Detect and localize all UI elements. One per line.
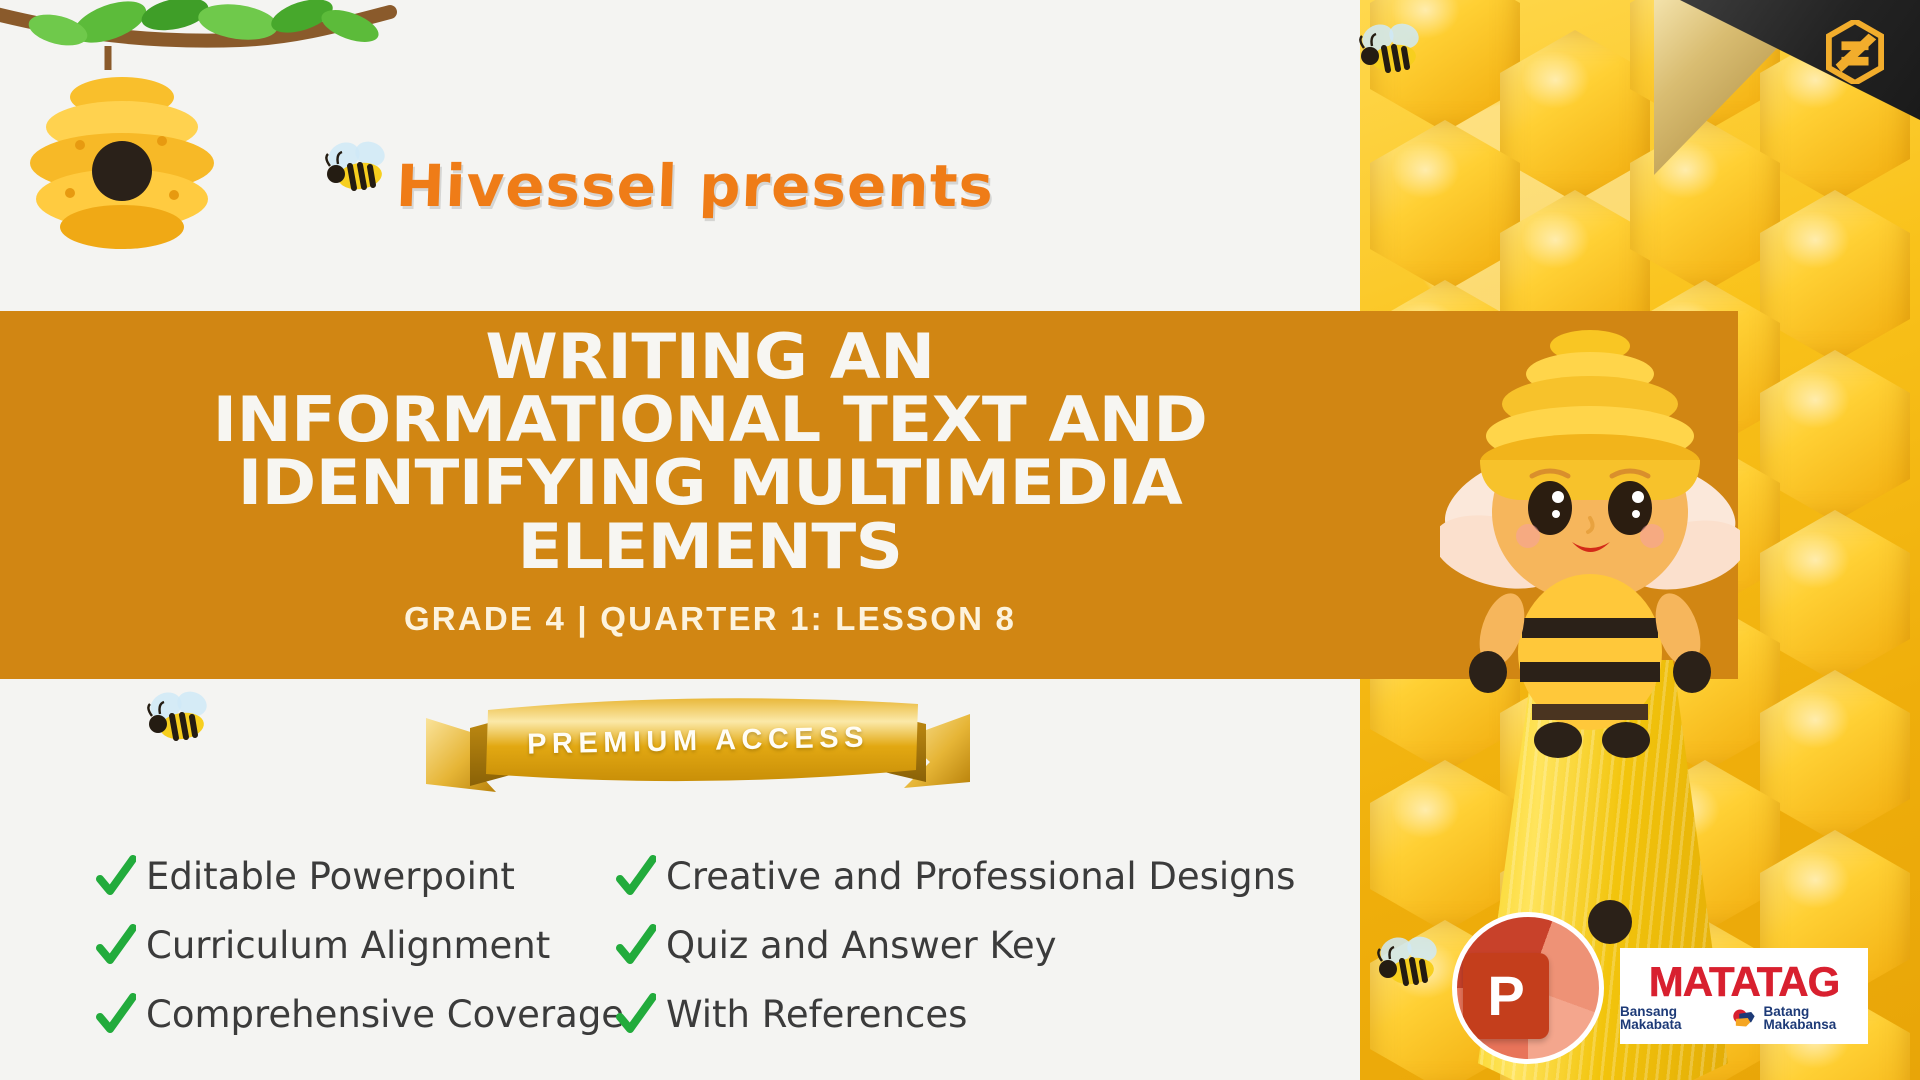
bee-icon: [318, 140, 390, 200]
matatag-wordmark: MATATAG: [1649, 961, 1840, 1003]
check-icon: [616, 993, 656, 1037]
feature-label: Quiz and Answer Key: [666, 927, 1057, 966]
title-line-4: ELEMENTS: [85, 515, 1336, 578]
hive-entrance-hole: [1588, 900, 1632, 944]
list-item: Comprehensive Coverage: [96, 993, 616, 1037]
feature-label: Editable Powerpoint: [146, 858, 515, 897]
powerpoint-icon: P: [1452, 912, 1604, 1064]
feature-label: Creative and Professional Designs: [666, 858, 1295, 897]
check-icon: [96, 993, 136, 1037]
list-item: With References: [616, 993, 1236, 1037]
bee-icon: [140, 690, 212, 750]
title-line-2: INFORMATIONAL TEXT AND: [85, 388, 1336, 451]
grade-quarter-lesson-subtitle: GRADE 4 | QUARTER 1: LESSON 8: [404, 600, 1016, 638]
check-icon: [616, 924, 656, 968]
list-item: Creative and Professional Designs: [616, 855, 1236, 899]
bee-mascot-with-hive-hat: [1440, 300, 1740, 760]
feature-list: Editable Powerpoint Creative and Profess…: [96, 855, 1276, 1037]
clasped-hands-icon: [1729, 1007, 1758, 1029]
title-line-1: WRITING AN: [85, 325, 1336, 388]
hexagon-s-logo-icon: [1826, 20, 1884, 84]
bee-icon: [1370, 935, 1442, 995]
powerpoint-letter-tile: P: [1463, 953, 1549, 1039]
matatag-tagline-left: Bansang Makabata: [1620, 1005, 1724, 1032]
list-item: Curriculum Alignment: [96, 924, 616, 968]
title-block: WRITING AN INFORMATIONAL TEXT AND IDENTI…: [0, 311, 1420, 679]
list-item: Editable Powerpoint: [96, 855, 616, 899]
premium-access-ribbon: PREMIUM ACCESS: [418, 688, 978, 798]
feature-label: Comprehensive Coverage: [146, 996, 624, 1035]
bee-icon: [1352, 22, 1424, 82]
matatag-logo: MATATAG Bansang Makabata Batang Makabans…: [1620, 948, 1868, 1044]
list-item: Quiz and Answer Key: [616, 924, 1236, 968]
page-title: WRITING AN INFORMATIONAL TEXT AND IDENTI…: [85, 325, 1336, 578]
powerpoint-letter: P: [1487, 968, 1524, 1024]
feature-label: Curriculum Alignment: [146, 927, 550, 966]
feature-label: With References: [666, 996, 967, 1035]
presents-line: Hivessel presents: [0, 152, 1391, 220]
check-icon: [96, 924, 136, 968]
matatag-tagline: Bansang Makabata Batang Makabansa: [1620, 1005, 1868, 1032]
slide-canvas: Hivessel presents: [0, 0, 1920, 1080]
title-line-3: IDENTIFYING MULTIMEDIA: [85, 451, 1336, 514]
matatag-tagline-right: Batang Makabansa: [1764, 1005, 1868, 1032]
check-icon: [96, 855, 136, 899]
check-icon: [616, 855, 656, 899]
